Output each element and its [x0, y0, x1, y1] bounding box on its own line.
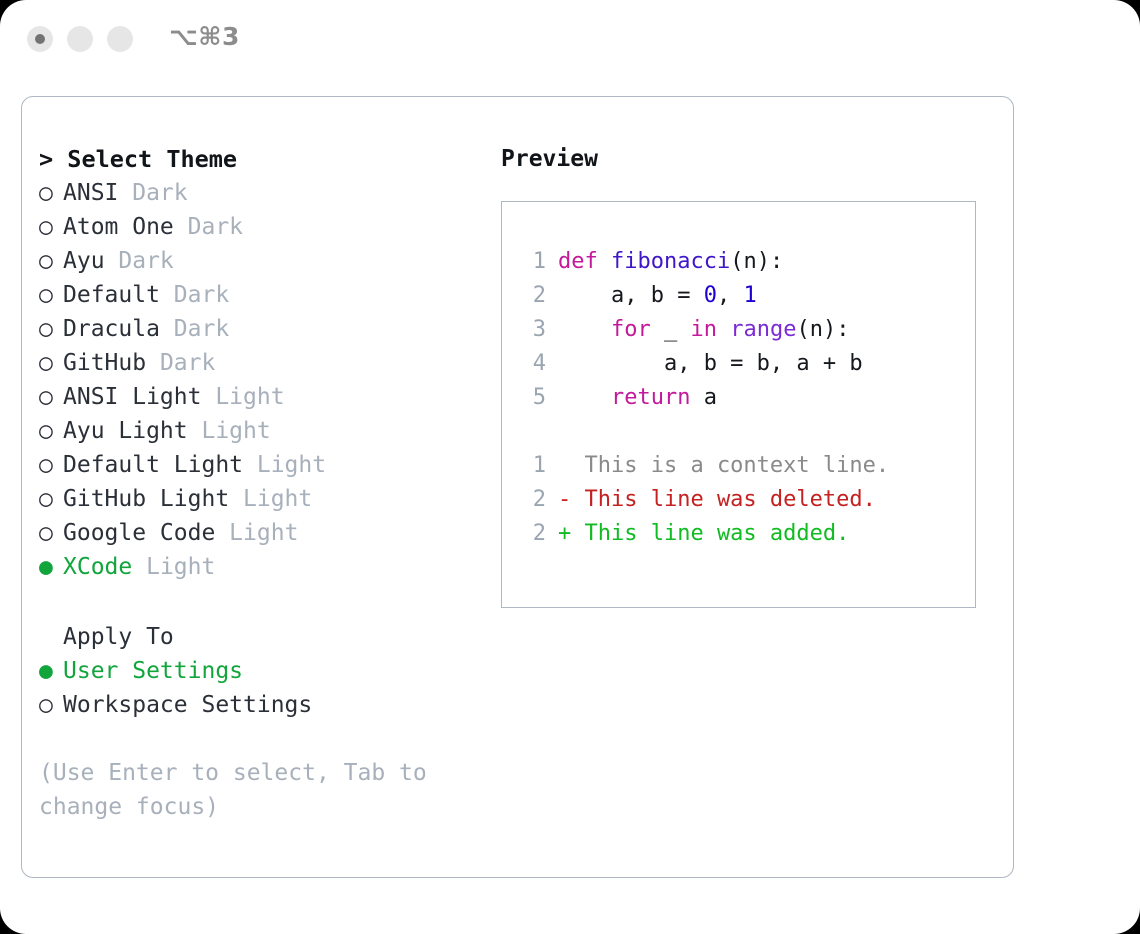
theme-variant-label: Light [188, 418, 271, 444]
theme-name-label: GitHub [63, 350, 146, 376]
line-number: 2 [520, 517, 546, 551]
code-token: a, b = [558, 283, 704, 308]
theme-name-label: Dracula [63, 316, 160, 342]
code-token: return [611, 385, 690, 410]
theme-name-label: Atom One [63, 214, 174, 240]
code-token: (n): [796, 317, 849, 342]
theme-option-ayu-light[interactable]: ○Ayu Light Light [39, 414, 479, 448]
keyboard-shortcut-label: ⌥⌘3 [169, 22, 240, 51]
theme-variant-label: Light [215, 520, 298, 546]
code-line: 4 a, b = b, a + b [520, 347, 967, 381]
radio-unselected-icon: ○ [39, 176, 63, 210]
radio-unselected-icon: ○ [39, 278, 63, 312]
traffic-light-active-indicator [35, 34, 45, 44]
theme-name-label: Default Light [63, 452, 243, 478]
code-token [558, 317, 611, 342]
theme-option-github-light[interactable]: ○GitHub Light Light [39, 482, 479, 516]
code-token: range [730, 317, 796, 342]
code-line: 1def fibonacci(n): [520, 245, 967, 279]
code-line: 5 return a [520, 381, 967, 415]
theme-name-label: GitHub Light [63, 486, 229, 512]
radio-unselected-icon: ○ [39, 516, 63, 550]
line-number: 5 [520, 381, 546, 415]
theme-option-default-light[interactable]: ○Default Light Light [39, 448, 479, 482]
line-number: 4 [520, 347, 546, 381]
code-token: fibonacci [611, 249, 730, 274]
diff-text: - This line was deleted. [558, 487, 876, 512]
code-token: (n): [730, 249, 783, 274]
code-token: 1 [743, 283, 756, 308]
radio-unselected-icon: ○ [39, 312, 63, 346]
preview-heading: Preview [501, 142, 991, 176]
apply-to-option-workspace-settings[interactable]: ○Workspace Settings [39, 688, 479, 722]
apply-to-option-user-settings[interactable]: ●User Settings [39, 654, 479, 688]
theme-option-xcode[interactable]: ●XCode Light [39, 550, 479, 584]
window-titlebar: ⌥⌘3 [0, 0, 1140, 78]
theme-option-atom-one[interactable]: ○Atom One Dark [39, 210, 479, 244]
line-number: 2 [520, 279, 546, 313]
diff-line-del: 2- This line was deleted. [520, 483, 967, 517]
theme-list: ○ANSI Dark○Atom One Dark○Ayu Dark○Defaul… [39, 176, 479, 584]
apply-to-options: ●User Settings○Workspace Settings [39, 654, 479, 722]
code-spacer [520, 415, 967, 449]
radio-selected-icon: ● [39, 550, 63, 584]
theme-variant-label: Light [132, 554, 215, 580]
radio-unselected-icon: ○ [39, 448, 63, 482]
code-token: _ [651, 317, 691, 342]
radio-unselected-icon: ○ [39, 210, 63, 244]
theme-list-panel: > Select Theme ○ANSI Dark○Atom One Dark○… [39, 142, 479, 824]
theme-option-ayu[interactable]: ○Ayu Dark [39, 244, 479, 278]
theme-option-dracula[interactable]: ○Dracula Dark [39, 312, 479, 346]
radio-unselected-icon: ○ [39, 414, 63, 448]
radio-unselected-icon: ○ [39, 380, 63, 414]
theme-variant-label: Light [229, 486, 312, 512]
traffic-light-maximize-icon[interactable] [107, 26, 133, 52]
select-theme-heading: > Select Theme [39, 142, 479, 176]
line-number: 1 [520, 245, 546, 279]
code-token: for [611, 317, 651, 342]
theme-option-ansi[interactable]: ○ANSI Dark [39, 176, 479, 210]
code-line: 3 for _ in range(n): [520, 313, 967, 347]
theme-name-label: Ayu Light [63, 418, 188, 444]
radio-unselected-icon: ○ [39, 482, 63, 516]
diff-line-ctx: 1 This is a context line. [520, 449, 967, 483]
preview-panel: Preview 1def fibonacci(n):2 a, b = 0, 13… [501, 142, 991, 608]
theme-name-label: XCode [63, 554, 132, 580]
traffic-light-close-icon[interactable] [27, 26, 53, 52]
traffic-light-minimize-icon[interactable] [67, 26, 93, 52]
theme-variant-label: Dark [146, 350, 215, 376]
theme-name-label: ANSI [63, 180, 118, 206]
code-token: a, b = b, a + b [558, 351, 863, 376]
app-page: ⌥⌘3 > Select Theme ○ANSI Dark○Atom One D… [0, 0, 1140, 934]
theme-name-label: Default [63, 282, 160, 308]
theme-option-ansi-light[interactable]: ○ANSI Light Light [39, 380, 479, 414]
theme-name-label: ANSI Light [63, 384, 201, 410]
theme-selector-window: > Select Theme ○ANSI Dark○Atom One Dark○… [21, 96, 1014, 878]
code-token [558, 385, 611, 410]
code-token [717, 317, 730, 342]
code-token: 0 [704, 283, 717, 308]
keyboard-hint-text: (Use Enter to select, Tab to change focu… [39, 756, 444, 824]
apply-to-label: Workspace Settings [63, 692, 312, 718]
code-line: 2 a, b = 0, 1 [520, 279, 967, 313]
diff-sample-lines: 1 This is a context line.2- This line wa… [520, 449, 967, 551]
theme-variant-label: Dark [160, 316, 229, 342]
syntax-sample-lines: 1def fibonacci(n):2 a, b = 0, 13 for _ i… [520, 245, 967, 415]
diff-text: + This line was added. [558, 521, 849, 546]
code-preview-box: 1def fibonacci(n):2 a, b = 0, 13 for _ i… [501, 201, 976, 608]
theme-option-google-code[interactable]: ○Google Code Light [39, 516, 479, 550]
line-number: 2 [520, 483, 546, 517]
theme-variant-label: Dark [174, 214, 243, 240]
apply-to-heading: Apply To [39, 620, 479, 654]
apply-to-label: User Settings [63, 658, 243, 684]
theme-name-label: Ayu [63, 248, 105, 274]
radio-unselected-icon: ○ [39, 244, 63, 278]
theme-variant-label: Light [243, 452, 326, 478]
line-number: 1 [520, 449, 546, 483]
radio-unselected-icon: ○ [39, 688, 63, 722]
theme-option-default[interactable]: ○Default Dark [39, 278, 479, 312]
radio-selected-icon: ● [39, 654, 63, 688]
theme-variant-label: Dark [118, 180, 187, 206]
theme-option-github[interactable]: ○GitHub Dark [39, 346, 479, 380]
code-token: def [558, 249, 611, 274]
code-preview-content: 1def fibonacci(n):2 a, b = 0, 13 for _ i… [520, 245, 967, 551]
line-number: 3 [520, 313, 546, 347]
diff-text: This is a context line. [558, 453, 889, 478]
diff-line-add: 2+ This line was added. [520, 517, 967, 551]
theme-variant-label: Light [201, 384, 284, 410]
theme-name-label: Google Code [63, 520, 215, 546]
theme-variant-label: Dark [105, 248, 174, 274]
radio-unselected-icon: ○ [39, 346, 63, 380]
code-token: in [690, 317, 717, 342]
theme-variant-label: Dark [160, 282, 229, 308]
code-token: a [690, 385, 717, 410]
code-token: , [717, 283, 744, 308]
